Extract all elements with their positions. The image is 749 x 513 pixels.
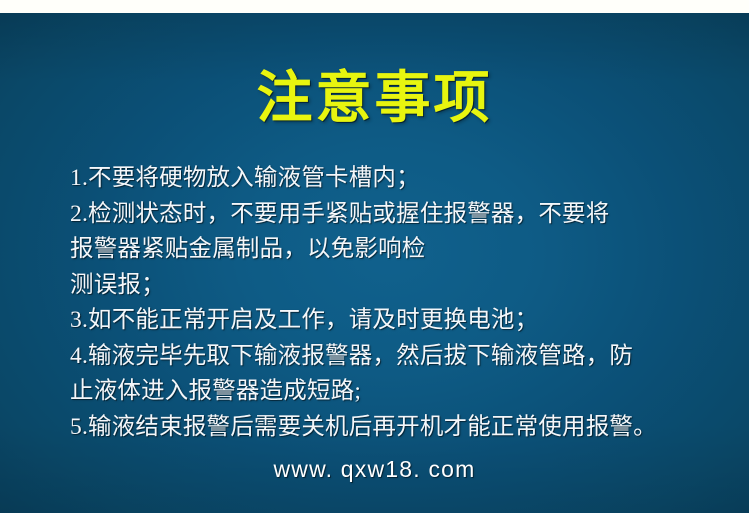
notice-line-5: 3.如不能正常开启及工作，请及时更换电池；	[70, 303, 710, 339]
notice-line-8: 5.输液结束报警后需要关机后再开机才能正常使用报警。	[70, 410, 710, 446]
notice-line-6: 4.输液完毕先取下输液报警器，然后拔下输液管路，防	[70, 339, 710, 375]
notice-list: 1.不要将硬物放入输液管卡槽内； 2.检测状态时，不要用手紧贴或握住报警器，不要…	[70, 161, 710, 445]
notice-line-2: 2.检测状态时，不要用手紧贴或握住报警器，不要将	[70, 197, 710, 233]
slide-content: 注意事项 1.不要将硬物放入输液管卡槽内； 2.检测状态时，不要用手紧贴或握住报…	[0, 13, 749, 513]
presentation-slide: 注意事项 1.不要将硬物放入输液管卡槽内； 2.检测状态时，不要用手紧贴或握住报…	[0, 0, 749, 513]
notice-line-4: 测误报；	[70, 268, 710, 304]
notice-line-1: 1.不要将硬物放入输液管卡槽内；	[70, 161, 710, 197]
slide-title: 注意事项	[0, 70, 749, 129]
notice-line-7: 止液体进入报警器造成短路;	[70, 374, 710, 410]
top-white-strip	[0, 0, 749, 13]
website-url: www. qxw18. com	[0, 456, 749, 483]
notice-line-3: 报警器紧贴金属制品，以免影响检	[70, 232, 710, 268]
